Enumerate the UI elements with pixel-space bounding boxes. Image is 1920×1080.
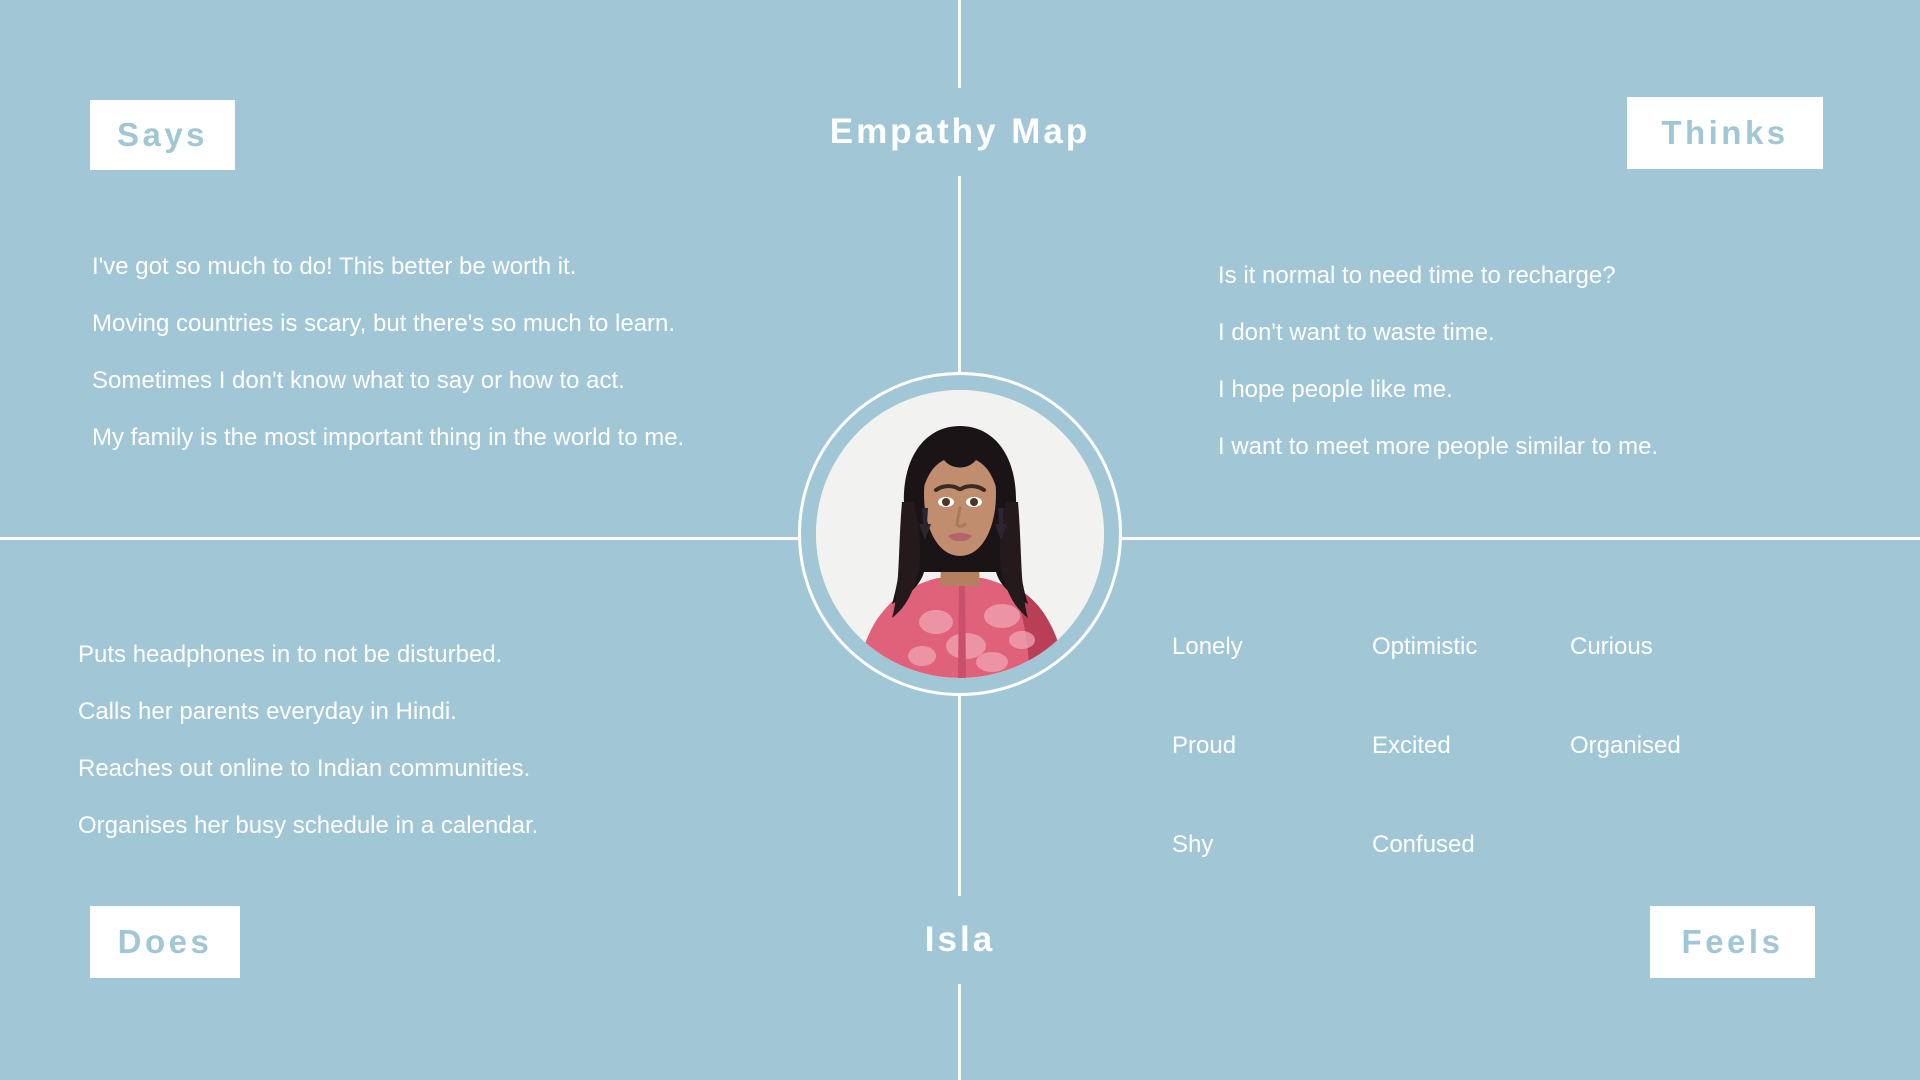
feels-word: Shy: [1172, 831, 1372, 930]
feels-word-grid: Lonely Optimistic Curious Proud Excited …: [1172, 633, 1681, 930]
does-line: Calls her parents everyday in Hindi.: [78, 700, 538, 724]
does-line: Organises her busy schedule in a calenda…: [78, 814, 538, 838]
feels-word: Confused: [1372, 831, 1570, 930]
feels-word: Organised: [1570, 732, 1681, 831]
thinks-text-block: Is it normal to need time to recharge? I…: [1218, 264, 1658, 459]
persona-portrait-illustration: [816, 390, 1104, 678]
page-title: Empathy Map: [0, 112, 1920, 152]
feels-word: Lonely: [1172, 633, 1372, 732]
says-line: I've got so much to do! This better be w…: [92, 255, 684, 279]
thinks-line: Is it normal to need time to recharge?: [1218, 264, 1658, 288]
avatar-photo: [816, 390, 1104, 678]
thinks-line: I want to meet more people similar to me…: [1218, 435, 1658, 459]
says-line: Sometimes I don't know what to say or ho…: [92, 369, 684, 393]
does-line: Reaches out online to Indian communities…: [78, 757, 538, 781]
feels-word: Excited: [1372, 732, 1570, 831]
thinks-line: I don't want to waste time.: [1218, 321, 1658, 345]
says-text-block: I've got so much to do! This better be w…: [92, 255, 684, 450]
feels-word: Proud: [1172, 732, 1372, 831]
feels-word: Optimistic: [1372, 633, 1570, 732]
says-line: Moving countries is scary, but there's s…: [92, 312, 684, 336]
does-text-block: Puts headphones in to not be disturbed. …: [78, 643, 538, 838]
persona-avatar: [798, 372, 1122, 696]
does-line: Puts headphones in to not be disturbed.: [78, 643, 538, 667]
persona-name-label: Isla: [0, 920, 1920, 960]
thinks-line: I hope people like me.: [1218, 378, 1658, 402]
feels-word: Curious: [1570, 633, 1681, 732]
empathy-map-board: Says Thinks Does Feels Empathy Map Isla …: [0, 0, 1920, 1080]
says-line: My family is the most important thing in…: [92, 426, 684, 450]
